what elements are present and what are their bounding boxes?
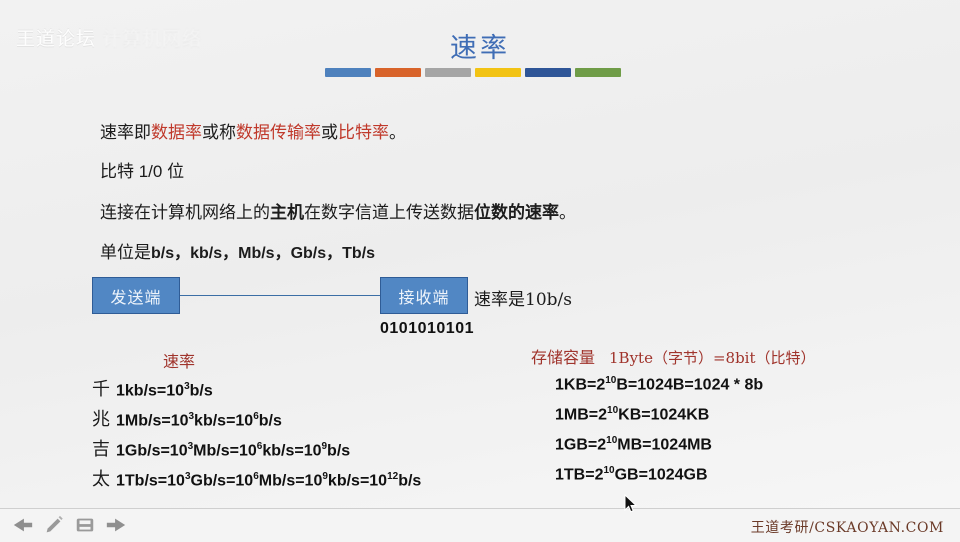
equation-expression: 1KB=210B=1024B=1024 * 8b bbox=[555, 375, 763, 394]
units-prefix: 单位是 bbox=[100, 243, 151, 263]
equation-row: 1KB=210B=1024B=1024 * 8b bbox=[531, 375, 763, 405]
equation-row: 1TB=210GB=1024GB bbox=[531, 465, 763, 495]
equation-row: 太1Tb/s=103Gb/s=106Mb/s=109kb/s=1012b/s bbox=[92, 465, 421, 495]
mouse-cursor bbox=[624, 494, 638, 519]
term-bit-rate: 比特率 bbox=[338, 123, 389, 143]
storage-table-heading: 存储容量1Byte（字节）=8bit（比特） bbox=[531, 344, 816, 368]
equation-prefix: 吉 bbox=[92, 435, 116, 461]
equation-prefix: 千 bbox=[92, 375, 116, 401]
bit-note-line: 比特 1/0 位 bbox=[100, 157, 184, 182]
equation-prefix: 太 bbox=[92, 465, 116, 491]
definition-line: 速率即数据率或称数据传输率或比特率。 bbox=[100, 118, 406, 143]
speed-table-heading: 速率 bbox=[163, 348, 195, 372]
toolbar-icon-group bbox=[12, 514, 127, 536]
term-host: 主机 bbox=[270, 203, 304, 223]
definition-part-4: 。 bbox=[389, 123, 406, 143]
equation-expression: 1GB=210MB=1024MB bbox=[555, 435, 712, 454]
accent-bar-1 bbox=[325, 68, 371, 77]
equation-expression: 1TB=210GB=1024GB bbox=[555, 465, 708, 484]
bottom-toolbar: 王道考研/CSKAOYAN.COM bbox=[0, 508, 960, 542]
host-def-part-1: 连接在计算机网络上的 bbox=[100, 203, 270, 223]
term-data-rate: 数据率 bbox=[151, 123, 202, 143]
host-def-part-2: 在数字信道上传送数据 bbox=[304, 203, 474, 223]
link-line bbox=[180, 295, 380, 296]
next-arrow-icon[interactable] bbox=[105, 514, 127, 536]
byte-bit-note: 1Byte（字节）=8bit（比特） bbox=[609, 349, 816, 367]
accent-bar-5 bbox=[525, 68, 571, 77]
accent-bar-4 bbox=[475, 68, 521, 77]
definition-part-2: 或称 bbox=[202, 123, 236, 143]
storage-heading-text: 存储容量 bbox=[531, 348, 595, 367]
equation-row: 1GB=210MB=1024MB bbox=[531, 435, 763, 465]
slide-canvas: 王道论坛计算机网络 速率 速率即数据率或称数据传输率或比特率。 比特 1/0 位… bbox=[0, 0, 960, 542]
term-bits-per-second: 位数的速率 bbox=[474, 203, 559, 223]
units-values: b/s，kb/s，Mb/s，Gb/s，Tb/s bbox=[151, 245, 375, 262]
equation-expression: 1MB=210KB=1024KB bbox=[555, 405, 709, 424]
accent-bar-3 bbox=[425, 68, 471, 77]
sender-node: 发送端 bbox=[92, 277, 180, 314]
pencil-icon[interactable] bbox=[43, 514, 65, 536]
accent-bar-2 bbox=[375, 68, 421, 77]
term-data-transfer-rate: 数据传输率 bbox=[236, 123, 321, 143]
bitstream-annotation: 0101010101 bbox=[380, 320, 474, 338]
equation-expression: 1Mb/s=103kb/s=106b/s bbox=[116, 411, 282, 430]
receiver-node: 接收端 bbox=[380, 277, 468, 314]
equation-expression: 1kb/s=103b/s bbox=[116, 381, 213, 400]
equation-prefix: 兆 bbox=[92, 405, 116, 431]
equation-row: 兆1Mb/s=103kb/s=106b/s bbox=[92, 405, 421, 435]
units-line: 单位是b/s，kb/s，Mb/s，Gb/s，Tb/s bbox=[100, 238, 375, 263]
footer-brand: 王道考研/CSKAOYAN.COM bbox=[751, 517, 944, 537]
accent-bar-6 bbox=[575, 68, 621, 77]
host-definition-line: 连接在计算机网络上的主机在数字信道上传送数据位数的速率。 bbox=[100, 198, 576, 223]
rate-annotation: 速率是10b/s bbox=[474, 285, 572, 310]
page-title: 速率 bbox=[0, 26, 960, 65]
title-accent-bars bbox=[325, 68, 621, 77]
equation-expression: 1Gb/s=103Mb/s=106kb/s=109b/s bbox=[116, 441, 350, 460]
equation-row: 1MB=210KB=1024KB bbox=[531, 405, 763, 435]
host-def-part-3: 。 bbox=[559, 203, 576, 223]
definition-part-3: 或 bbox=[321, 123, 338, 143]
equation-row: 吉1Gb/s=103Mb/s=106kb/s=109b/s bbox=[92, 435, 421, 465]
save-icon[interactable] bbox=[74, 514, 96, 536]
equation-expression: 1Tb/s=103Gb/s=106Mb/s=109kb/s=1012b/s bbox=[116, 471, 421, 490]
previous-arrow-icon[interactable] bbox=[12, 514, 34, 536]
storage-equation-list: 1KB=210B=1024B=1024 * 8b1MB=210KB=1024KB… bbox=[531, 375, 763, 495]
speed-equation-list: 千1kb/s=103b/s兆1Mb/s=103kb/s=106b/s吉1Gb/s… bbox=[92, 375, 421, 495]
equation-row: 千1kb/s=103b/s bbox=[92, 375, 421, 405]
definition-part-1: 速率即 bbox=[100, 123, 151, 143]
